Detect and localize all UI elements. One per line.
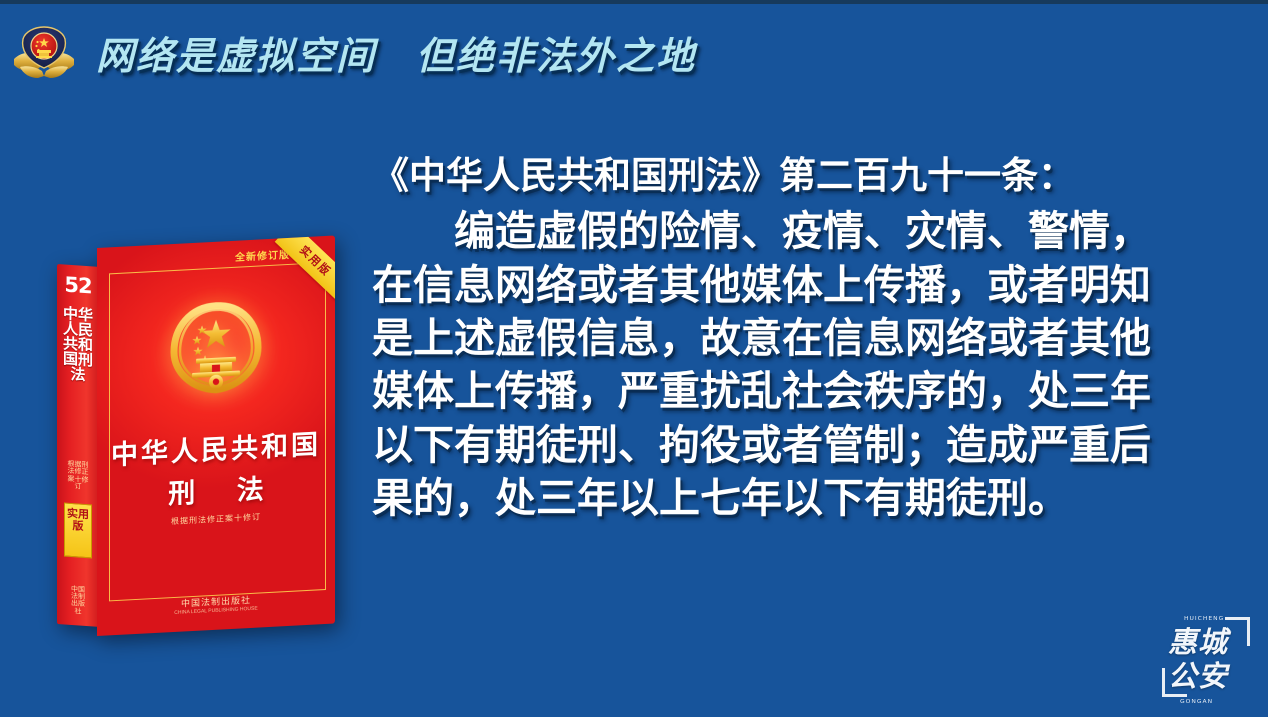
book-spine-tag: 实用版	[64, 502, 92, 558]
watermark-char-2: 城	[1198, 625, 1228, 659]
criminal-law-book-image: 52 中华人民共和国刑法 根据刑法修正案十修订 实用版 中国法制出版社 全新修订…	[57, 248, 335, 636]
watermark-characters: 惠城 公安	[1168, 625, 1246, 695]
book-spine: 52 中华人民共和国刑法 根据刑法修正案十修订 实用版 中国法制出版社	[57, 264, 99, 627]
national-emblem-icon	[162, 291, 270, 403]
law-body-line: 以下有期徒刑、拘役或者管制；造成严重后	[372, 419, 1240, 472]
law-text-block: 《中华人民共和国刑法》第二百九十一条： 编造虚假的险情、疫情、灾情、警情， 在信…	[372, 152, 1240, 525]
header-bar: 网络是虚拟空间 但绝非法外之地	[0, 4, 1268, 100]
watermark-char-3: 公	[1168, 659, 1198, 693]
police-badge-icon	[8, 21, 80, 85]
watermark-char-4: 安	[1198, 659, 1228, 693]
watermark-pinyin-top: HUICHENG	[1184, 615, 1224, 621]
watermark-char-1: 惠	[1168, 625, 1198, 659]
law-body-line: 是上述虚假信息，故意在信息网络或者其他	[372, 312, 1240, 365]
header-slogan: 网络是虚拟空间 但绝非法外之地	[96, 25, 696, 80]
law-body-line: 果的，处三年以上七年以下有期徒刑。	[372, 472, 1240, 525]
book-spine-number: 52	[57, 272, 99, 299]
law-article-body: 编造虚假的险情、疫情、灾情、警情， 在信息网络或者其他媒体上传播，或者明知 是上…	[372, 205, 1240, 525]
law-body-line: 编造虚假的险情、疫情、灾情、警情，	[372, 205, 1240, 258]
huicheng-police-watermark-logo: HUICHENG 惠城 公安 GONGAN	[1158, 611, 1254, 705]
law-article-heading: 《中华人民共和国刑法》第二百九十一条：	[372, 152, 1240, 199]
book-spine-subtitle: 根据刑法修正案十修订	[57, 460, 99, 492]
watermark-char-line-2: 公安	[1168, 659, 1246, 693]
book-spine-publisher: 中国法制出版社	[57, 585, 99, 617]
book-spine-title: 中华人民共和国刑法	[57, 306, 99, 384]
slide-canvas: 网络是虚拟空间 但绝非法外之地 52 中华人民共和国刑法 根据刑法修正案十修订 …	[0, 0, 1268, 717]
watermark-pinyin-bottom: GONGAN	[1180, 698, 1213, 704]
book-cover: 全新修订版·刑 法 实用版	[97, 236, 335, 636]
law-body-line: 在信息网络或者其他媒体上传播，或者明知	[372, 259, 1240, 312]
law-body-line: 媒体上传播，严重扰乱社会秩序的，处三年	[372, 365, 1240, 418]
watermark-char-line-1: 惠城	[1168, 625, 1246, 659]
